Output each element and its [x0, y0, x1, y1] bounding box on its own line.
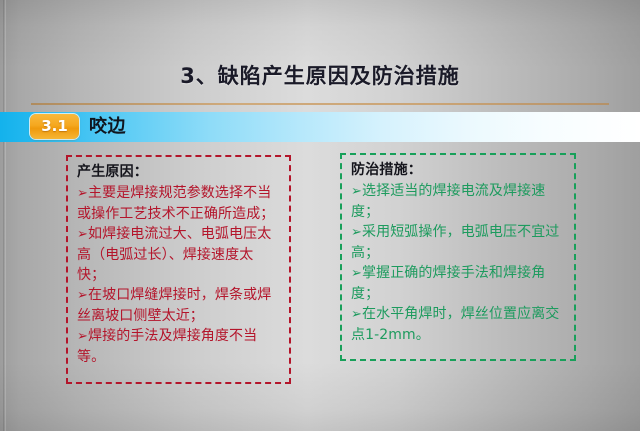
- arrow-bullet-icon: ➢: [77, 288, 88, 303]
- page-title: 3、缺陷产生原因及防治措施: [0, 60, 640, 90]
- measure-list: ➢选择适当的焊接电流及焊接速度； ➢采用短弧操作，电弧电压不宜过高； ➢掌握正确…: [351, 181, 566, 345]
- list-item-text: 主要是焊接规范参数选择不当或操作工艺技术不正确所造成；: [77, 185, 274, 222]
- arrow-bullet-icon: ➢: [77, 329, 88, 344]
- arrow-bullet-icon: ➢: [351, 225, 362, 240]
- list-item: ➢采用短弧操作，电弧电压不宜过高；: [351, 222, 566, 263]
- section-title: 咬边: [89, 115, 126, 139]
- cause-list: ➢主要是焊接规范参数选择不当或操作工艺技术不正确所造成； ➢如焊接电流过大、电弧…: [77, 183, 281, 367]
- measure-box-heading: 防治措施：: [351, 161, 566, 180]
- arrow-bullet-icon: ➢: [351, 184, 362, 199]
- list-item: ➢在水平角焊时，焊丝位置应离交点1-2mm。: [351, 304, 566, 345]
- list-item-text: 在坡口焊缝焊接时，焊条或焊丝离坡口侧壁太近；: [77, 287, 271, 324]
- cause-box: 产生原因： ➢主要是焊接规范参数选择不当或操作工艺技术不正确所造成； ➢如焊接电…: [66, 155, 291, 384]
- arrow-bullet-icon: ➢: [77, 186, 88, 201]
- title-divider-rule: [31, 103, 609, 105]
- list-item: ➢主要是焊接规范参数选择不当或操作工艺技术不正确所造成；: [77, 183, 281, 224]
- list-item: ➢焊接的手法及焊接角度不当等。: [77, 326, 281, 367]
- list-item: ➢在坡口焊缝焊接时，焊条或焊丝离坡口侧壁太近；: [77, 285, 281, 326]
- measure-box: 防治措施： ➢选择适当的焊接电流及焊接速度； ➢采用短弧操作，电弧电压不宜过高；…: [340, 153, 576, 361]
- section-number-badge: 3.1: [30, 114, 79, 139]
- list-item-text: 掌握正确的焊接手法和焊接角度；: [351, 265, 545, 302]
- list-item-text: 采用短弧操作，电弧电压不宜过高；: [351, 224, 559, 261]
- list-item: ➢掌握正确的焊接手法和焊接角度；: [351, 263, 566, 304]
- arrow-bullet-icon: ➢: [351, 307, 362, 322]
- arrow-bullet-icon: ➢: [77, 227, 88, 242]
- list-item-text: 如焊接电流过大、电弧电压太高（电弧过长）、焊接速度太快；: [77, 226, 271, 283]
- list-item-text: 焊接的手法及焊接角度不当等。: [77, 328, 257, 365]
- list-item: ➢如焊接电流过大、电弧电压太高（电弧过长）、焊接速度太快；: [77, 224, 281, 285]
- slide-canvas: 3、缺陷产生原因及防治措施 3.1 咬边 产生原因： ➢主要是焊接规范参数选择不…: [0, 0, 640, 431]
- list-item: ➢选择适当的焊接电流及焊接速度；: [351, 181, 566, 222]
- list-item-text: 在水平角焊时，焊丝位置应离交点1-2mm。: [351, 306, 559, 343]
- arrow-bullet-icon: ➢: [351, 266, 362, 281]
- cause-box-heading: 产生原因：: [77, 163, 281, 182]
- list-item-text: 选择适当的焊接电流及焊接速度；: [351, 183, 545, 220]
